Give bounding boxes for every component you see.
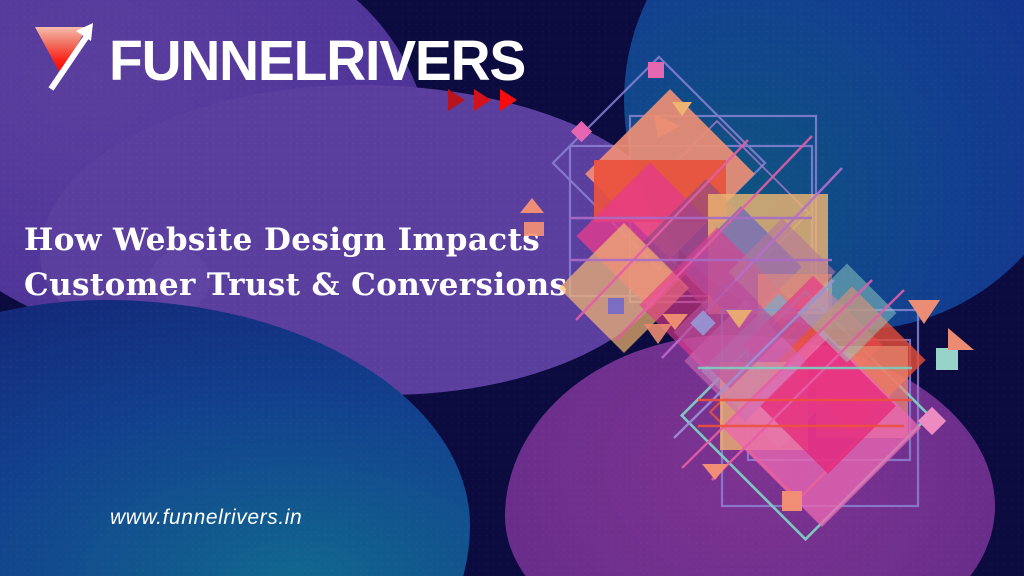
abstract-geometric-artwork [512, 28, 1024, 558]
promo-banner: FUNNELRIVERS How Website Design Impacts … [0, 0, 1024, 576]
website-url[interactable]: www.funnelrivers.in [110, 506, 302, 530]
logo-wordmark: FUNNELRIVERS [109, 33, 525, 90]
play-triangle-icon [448, 89, 465, 111]
headline-line-1: How Website Design Impacts [24, 218, 564, 263]
logo[interactable]: FUNNELRIVERS [31, 17, 561, 112]
funnel-arrow-icon [31, 17, 103, 95]
headline: How Website Design Impacts Customer Trus… [24, 218, 564, 308]
headline-line-2: Customer Trust & Conversions [24, 263, 564, 308]
play-triangle-icon [474, 89, 491, 111]
logo-accent-arrows [448, 89, 517, 111]
